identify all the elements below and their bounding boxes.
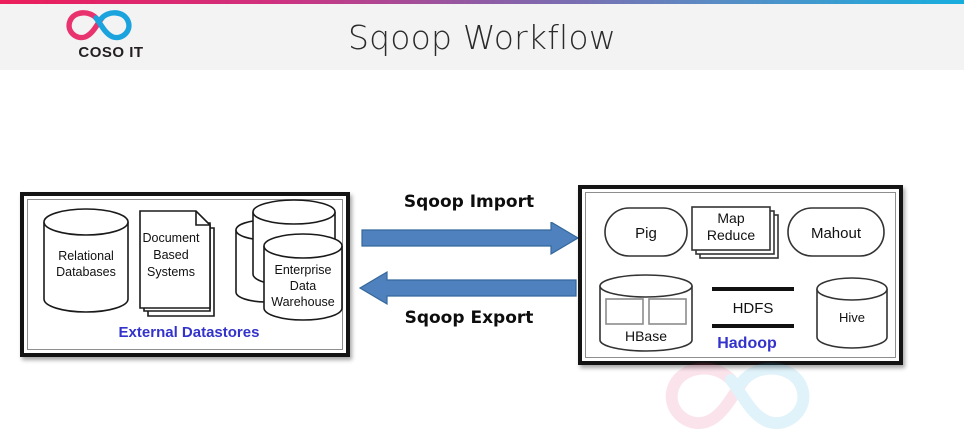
relational-databases-label-1: Relational [58, 249, 114, 263]
slide-header: COSO IT Sqoop Workflow [0, 4, 964, 70]
sqoop-export-label: Sqoop Export [360, 308, 578, 328]
document-based-systems-shape [140, 211, 214, 316]
hive-label: Hive [839, 310, 865, 325]
sqoop-import-label: Sqoop Import [360, 192, 578, 212]
external-datastores-panel: Relational Databases Document Based Syst… [20, 192, 350, 357]
relational-databases-label-2: Databases [56, 265, 116, 279]
page-title: Sqoop Workflow [0, 18, 964, 57]
document-based-systems-label-1: Document [143, 231, 200, 245]
document-based-systems-label-3: Systems [147, 265, 195, 279]
hdfs-label: HDFS [733, 300, 774, 317]
infinity-watermark-icon [634, 356, 894, 448]
map-reduce-label-2: Reduce [707, 227, 755, 243]
pig-label: Pig [635, 225, 657, 242]
enterprise-data-warehouse-label-1: Enterprise [275, 263, 332, 277]
sqoop-import-arrow [362, 222, 578, 254]
map-reduce-label-1: Map [717, 210, 744, 226]
mahout-label: Mahout [811, 225, 862, 242]
hbase-label: HBase [625, 328, 667, 344]
document-based-systems-label-2: Based [153, 248, 188, 262]
external-datastores-caption: External Datastores [24, 324, 354, 341]
sqoop-flow-arrows [355, 222, 583, 312]
enterprise-data-warehouse-label-2: Data [290, 279, 316, 293]
sqoop-export-arrow [360, 272, 576, 304]
hadoop-panel: Pig Map Reduce Mahout HBase HDFS Hive Ha… [578, 185, 903, 365]
enterprise-data-warehouse-label-3: Warehouse [271, 295, 335, 309]
hadoop-caption: Hadoop [667, 335, 827, 353]
